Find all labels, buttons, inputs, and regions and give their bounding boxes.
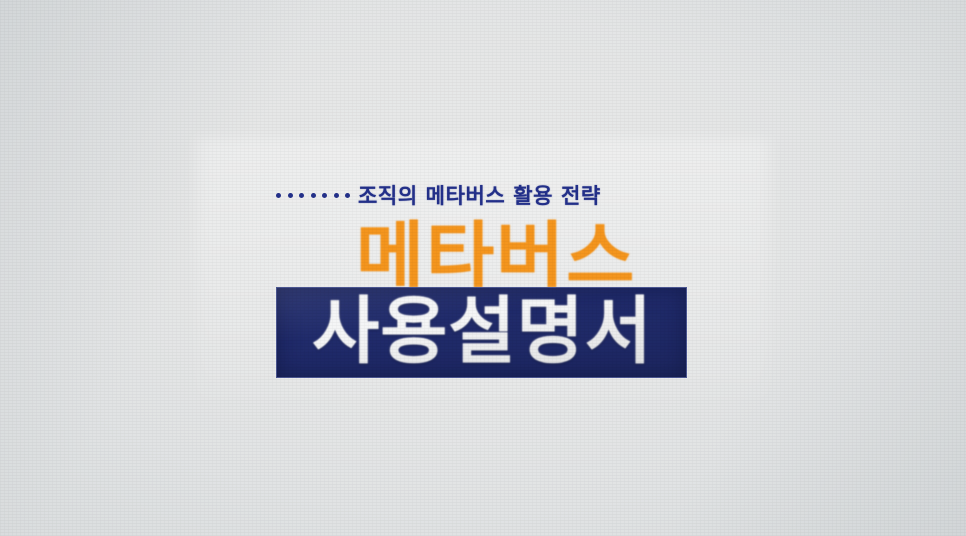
dot-ornament	[299, 193, 304, 198]
kicker-text: 조직의 메타버스 활용 전략	[358, 186, 601, 207]
dot-ornament	[345, 193, 350, 198]
dot-ornament	[276, 193, 281, 198]
dot-ornament	[322, 193, 327, 198]
title-card-canvas: 조직의 메타버스 활용 전략 메타버스 사용설명서	[0, 0, 966, 536]
title-lockup: 조직의 메타버스 활용 전략 메타버스 사용설명서	[0, 0, 966, 536]
leading-dots-ornament	[276, 193, 350, 199]
dot-ornament	[334, 193, 339, 198]
dot-ornament	[288, 193, 293, 198]
headline-plate-text: 사용설명서	[277, 288, 688, 379]
headline-navy-plate: 사용설명서	[276, 287, 687, 378]
kicker-row: 조직의 메타버스 활용 전략	[276, 182, 688, 210]
dot-ornament	[311, 193, 316, 198]
